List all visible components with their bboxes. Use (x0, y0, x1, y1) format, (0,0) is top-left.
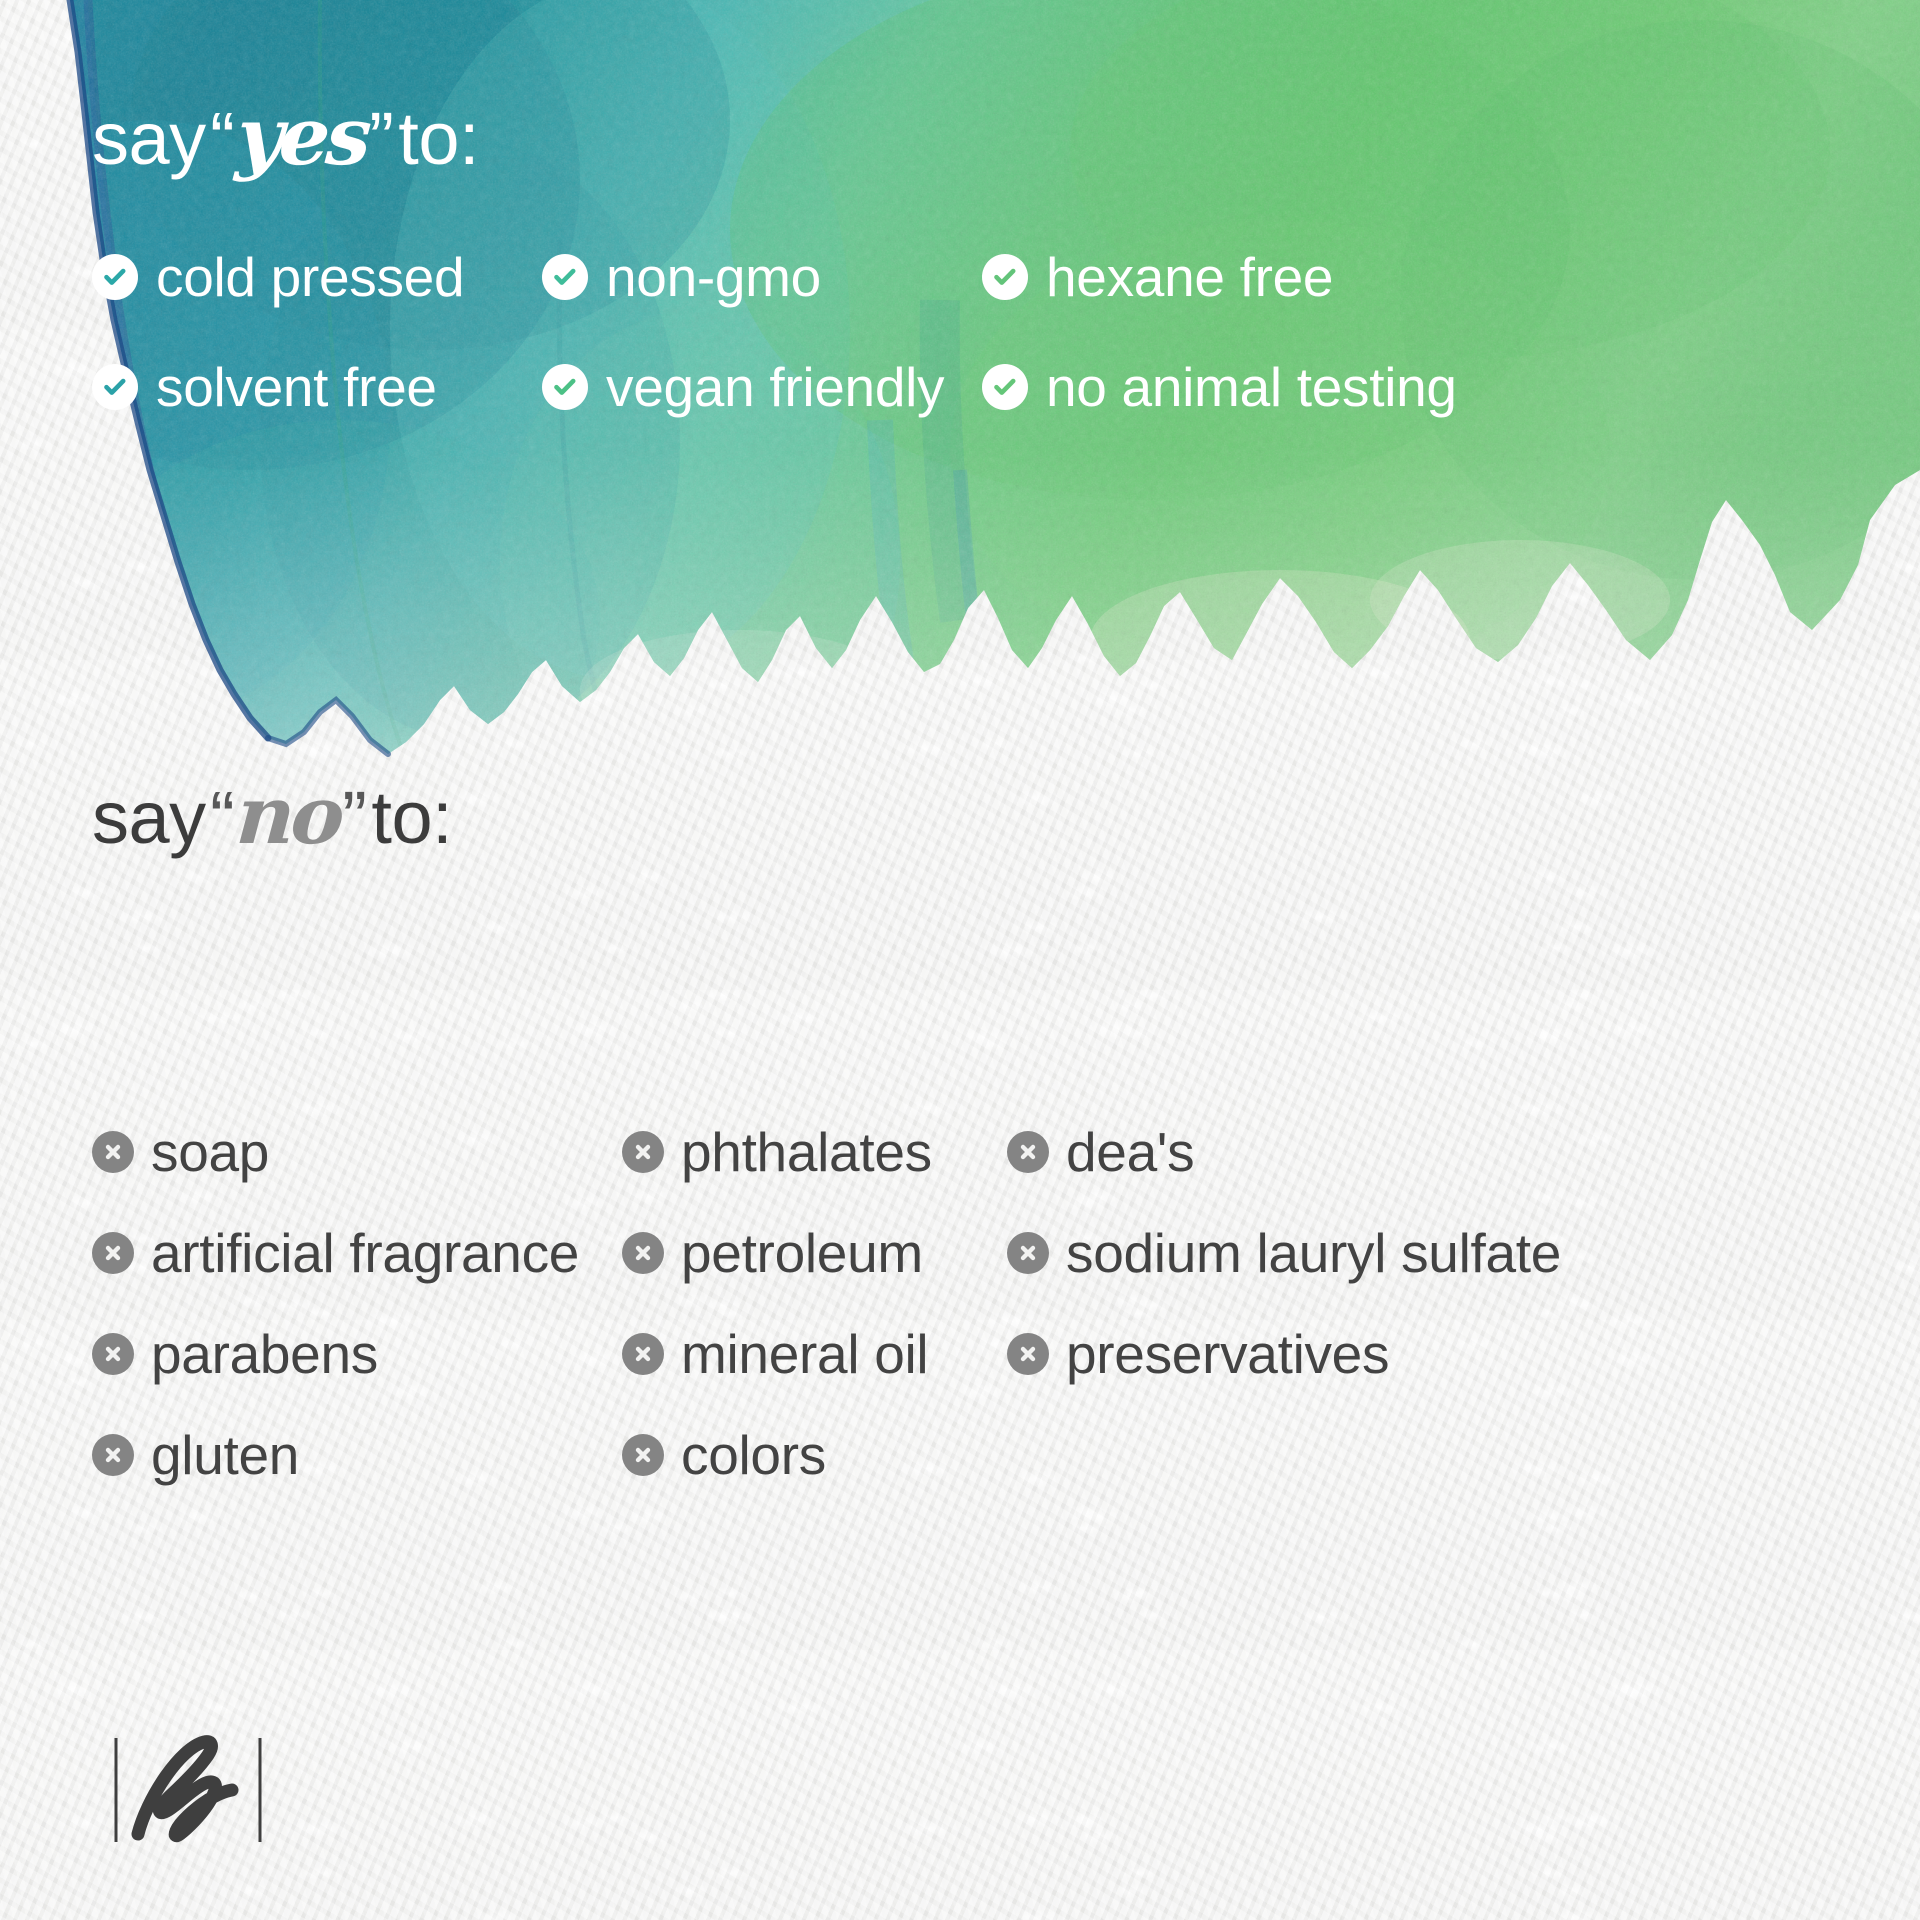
list-item: colors (622, 1423, 1007, 1487)
list-item-label: hexane free (1046, 245, 1333, 309)
list-item-label: soap (151, 1120, 269, 1184)
list-item: sodium lauryl sulfate (1007, 1221, 1832, 1285)
list-item: soap (92, 1120, 622, 1184)
list-item-label: vegan friendly (606, 355, 944, 419)
x-circle-icon (92, 1333, 134, 1375)
list-item-label: parabens (151, 1322, 378, 1386)
list-item-label: no animal testing (1046, 355, 1457, 419)
no-list: soap phthalates dea's artificial fragran… (92, 1120, 1832, 1487)
list-item-label: dea's (1066, 1120, 1194, 1184)
list-item-label: preservatives (1066, 1322, 1389, 1386)
yes-heading-suffix: to: (398, 97, 479, 180)
infographic-page: say “yes” to: cold pressed non-gmo hexan… (0, 0, 1920, 1920)
list-item: parabens (92, 1322, 622, 1386)
check-circle-icon (982, 254, 1028, 300)
x-circle-icon (1007, 1232, 1049, 1274)
x-circle-icon (1007, 1131, 1049, 1173)
list-item-label: solvent free (156, 355, 437, 419)
list-item: non-gmo (542, 245, 982, 309)
list-item: hexane free (982, 245, 1492, 309)
script-h-monogram-logo (108, 1730, 268, 1850)
list-item: petroleum (622, 1221, 1007, 1285)
x-circle-icon (622, 1232, 664, 1274)
check-circle-icon (542, 254, 588, 300)
yes-heading: say “yes” to: (92, 96, 479, 176)
no-heading-prefix: say (92, 776, 206, 859)
check-circle-icon (92, 364, 138, 410)
list-item-label: colors (681, 1423, 826, 1487)
no-heading-suffix: to: (371, 776, 452, 859)
x-circle-icon (1007, 1333, 1049, 1375)
check-circle-icon (982, 364, 1028, 410)
no-heading-open-quote: “ (210, 776, 235, 859)
x-circle-icon (92, 1232, 134, 1274)
check-circle-icon (92, 254, 138, 300)
list-item: mineral oil (622, 1322, 1007, 1386)
yes-list: cold pressed non-gmo hexane free solvent… (92, 245, 1492, 419)
x-circle-icon (622, 1434, 664, 1476)
list-item: gluten (92, 1423, 622, 1487)
list-item-label: non-gmo (606, 245, 821, 309)
list-item: cold pressed (92, 245, 542, 309)
list-item: vegan friendly (542, 355, 982, 419)
list-item-label: phthalates (681, 1120, 932, 1184)
list-item: no animal testing (982, 355, 1492, 419)
no-heading-script-word: no (232, 775, 345, 855)
list-item: phthalates (622, 1120, 1007, 1184)
list-item-label: petroleum (681, 1221, 923, 1285)
x-circle-icon (622, 1131, 664, 1173)
x-circle-icon (622, 1333, 664, 1375)
list-item-label: cold pressed (156, 245, 464, 309)
list-item: dea's (1007, 1120, 1832, 1184)
list-item-label: sodium lauryl sulfate (1066, 1221, 1561, 1285)
yes-heading-open-quote: “ (210, 97, 235, 180)
no-heading-close-quote: ” (342, 776, 367, 859)
list-item-label: artificial fragrance (151, 1221, 579, 1285)
check-circle-icon (542, 364, 588, 410)
list-item: solvent free (92, 355, 542, 419)
yes-heading-close-quote: ” (369, 97, 394, 180)
list-item: preservatives (1007, 1322, 1832, 1386)
list-item-label: gluten (151, 1423, 299, 1487)
list-item: artificial fragrance (92, 1221, 622, 1285)
x-circle-icon (92, 1434, 134, 1476)
yes-heading-prefix: say (92, 97, 206, 180)
list-item-label: mineral oil (681, 1322, 928, 1386)
no-heading: say “no” to: (92, 775, 452, 855)
x-circle-icon (92, 1131, 134, 1173)
yes-heading-script-word: yes (232, 96, 372, 176)
